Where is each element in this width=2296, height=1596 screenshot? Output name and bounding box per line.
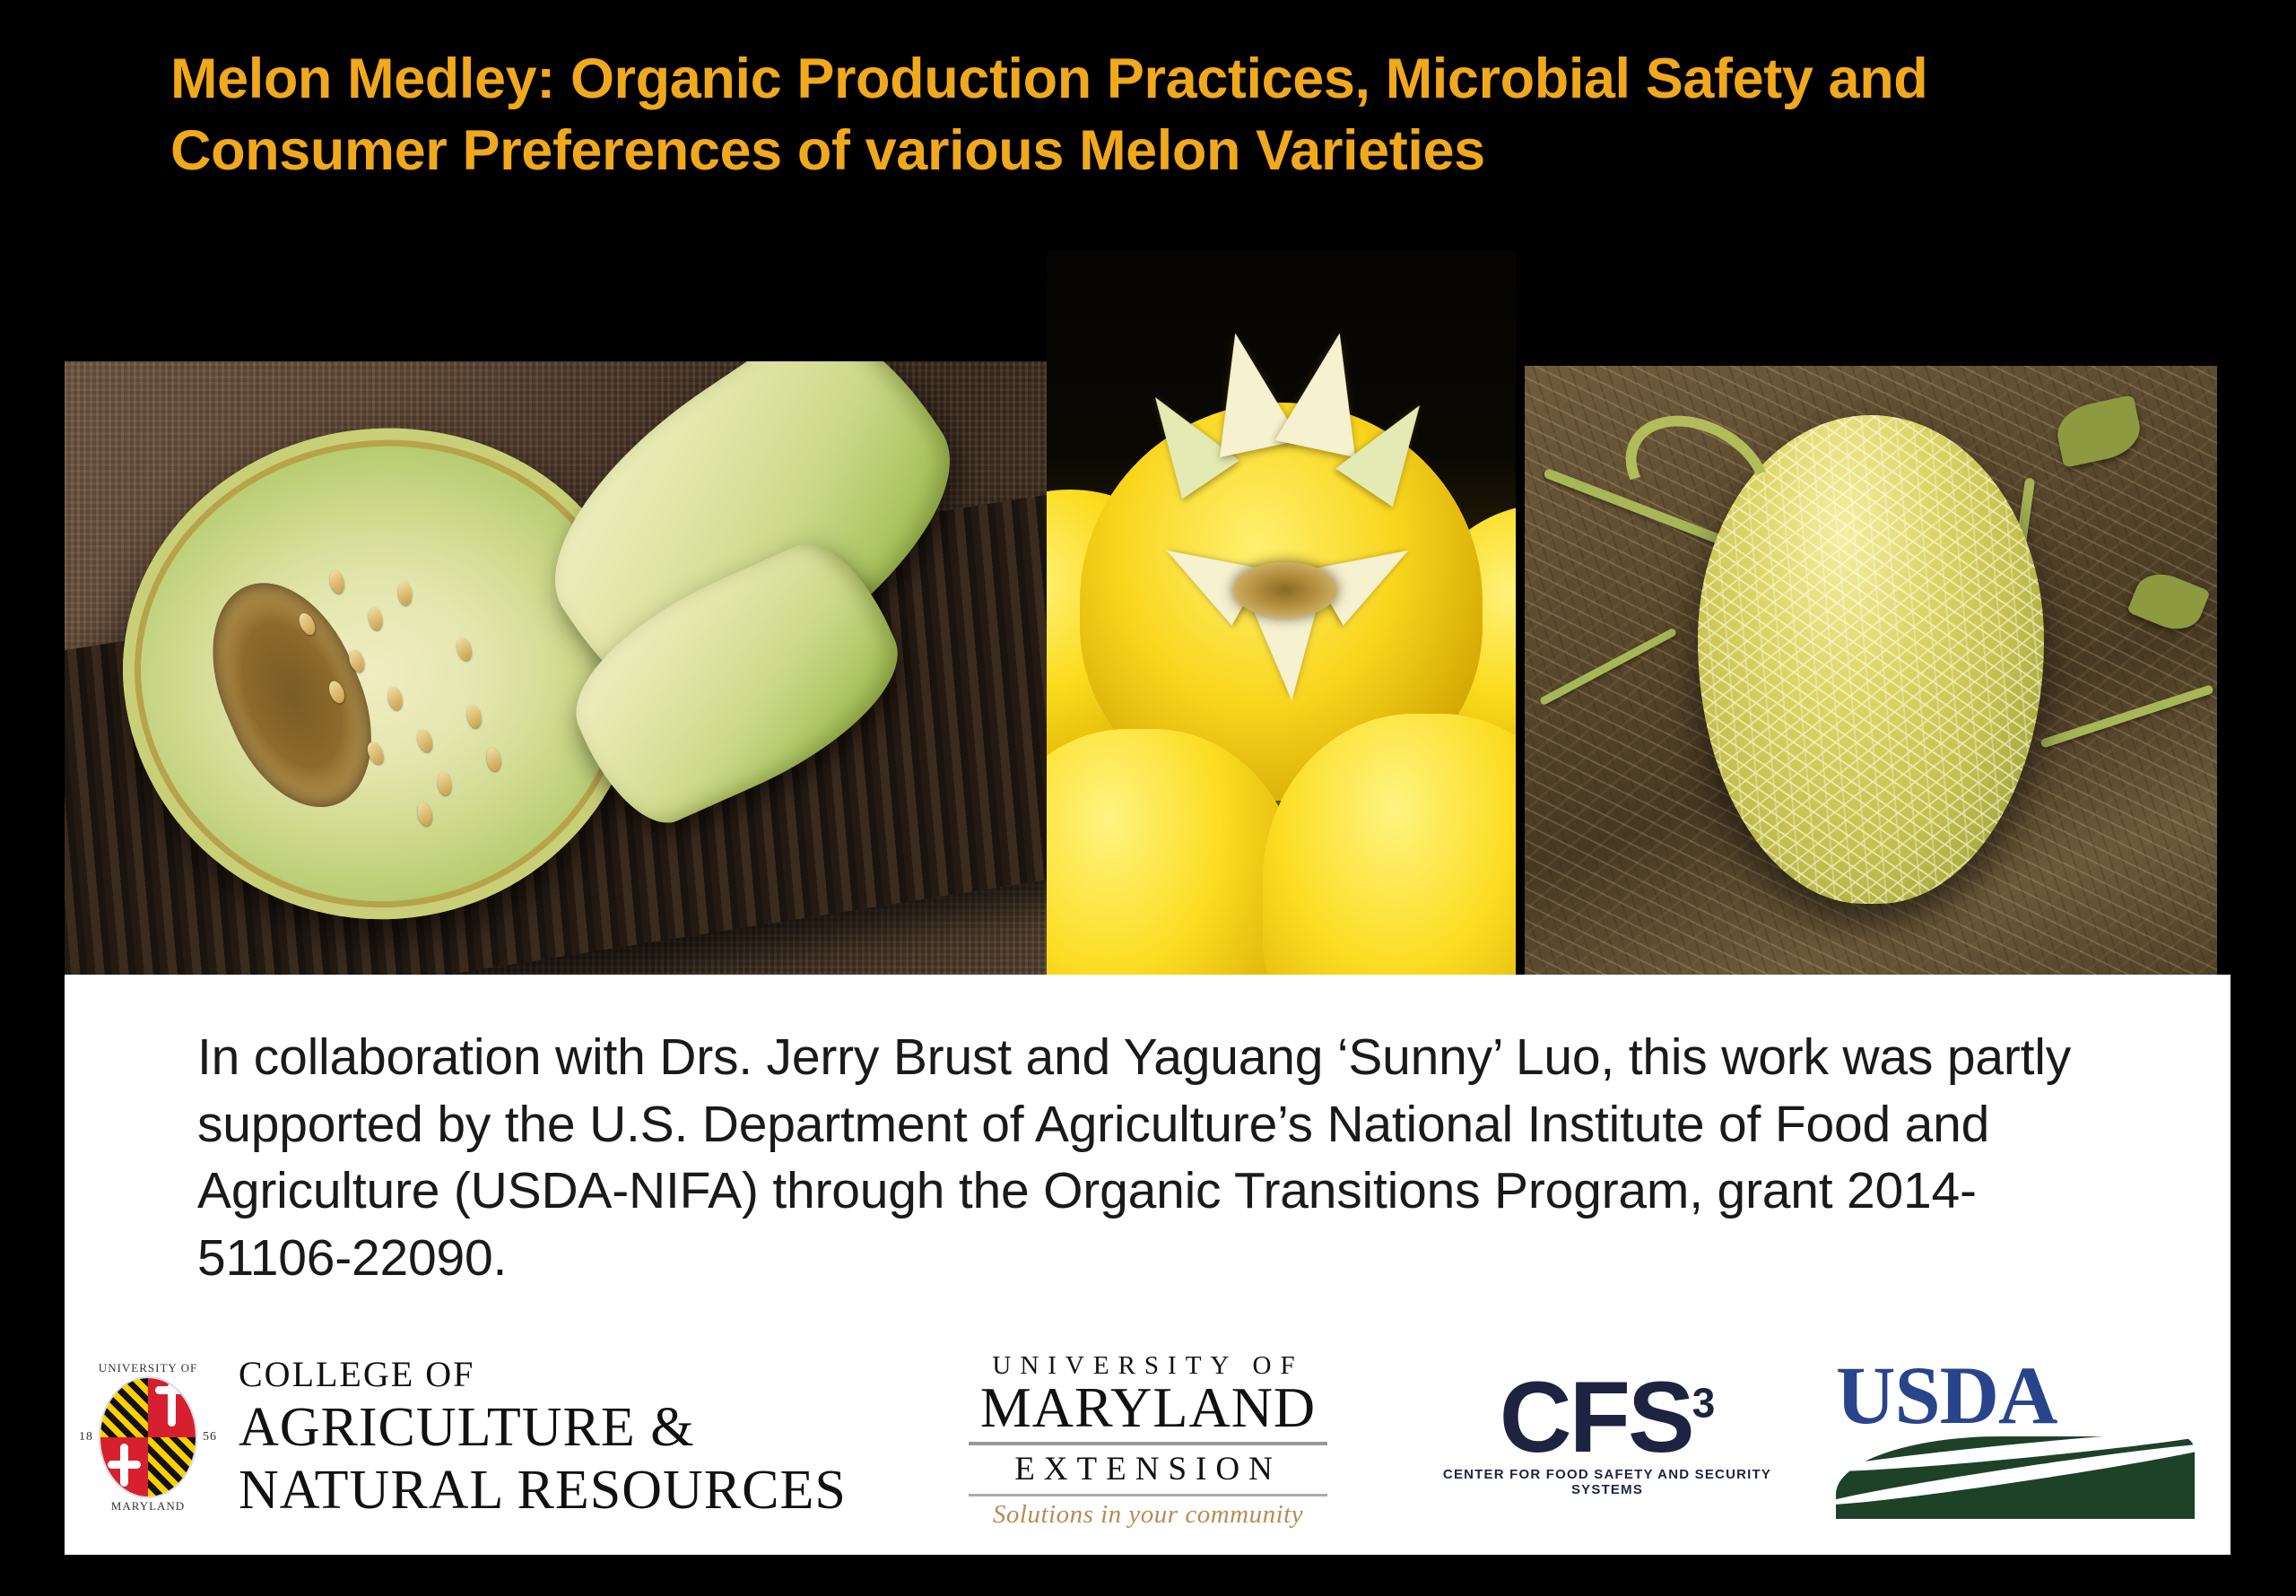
logo-row: UNIVERSITY OF MARYLAND 18 56 COLLEGE OF …: [65, 1351, 2231, 1544]
umd-seal-ring: UNIVERSITY OF MARYLAND 18 56: [81, 1362, 215, 1513]
photo-honeydew-melon-halved: [65, 361, 1047, 975]
melon-seed-core: [1233, 562, 1338, 618]
presentation-slide: Melon Medley: Organic Production Practic…: [0, 0, 2296, 1596]
canr-line-1: COLLEGE OF: [239, 1357, 847, 1392]
ume-tagline: Solutions in your community: [969, 1500, 1327, 1530]
photo-canary-melon-carved: [1047, 251, 1516, 975]
slide-title: Melon Medley: Organic Production Practic…: [170, 43, 2126, 186]
umd-seal-bottom-text: MARYLAND: [111, 1499, 185, 1514]
cfs3-letters: CFS: [1500, 1361, 1692, 1473]
acknowledgement-text: In collaboration with Drs. Jerry Brust a…: [197, 1024, 2099, 1292]
canr-line-2: AGRICULTURE &: [239, 1400, 847, 1455]
usda-field-graphic: [1836, 1436, 2195, 1519]
logo-umd-college-agriculture-natural-resources: UNIVERSITY OF MARYLAND 18 56 COLLEGE OF …: [81, 1357, 847, 1518]
canr-line-3: NATURAL RESOURCES: [239, 1462, 847, 1518]
cfs3-subtitle: CENTER FOR FOOD SAFETY AND SECURITY SYST…: [1437, 1467, 1778, 1497]
umd-seal-top-text: UNIVERSITY OF: [99, 1361, 197, 1375]
ume-divider-bottom: [969, 1494, 1327, 1496]
ume-line-maryland: MARYLAND: [969, 1379, 1327, 1436]
acknowledgement-panel: In collaboration with Drs. Jerry Brust a…: [65, 975, 2231, 1555]
logo-usda: USDA: [1836, 1357, 2195, 1519]
logo-umd-extension: UNIVERSITY OF MARYLAND EXTENSION Solutio…: [969, 1351, 1327, 1530]
umd-seal-year-left: 18: [79, 1430, 93, 1444]
logo-cfs3: CFS3 CENTER FOR FOOD SAFETY AND SECURITY…: [1437, 1371, 1778, 1497]
cfs3-mark: CFS3: [1437, 1371, 1778, 1463]
ume-divider-top: [969, 1442, 1327, 1445]
photo-netted-cantaloupe-field: [1525, 366, 2217, 984]
usda-wordmark: USDA: [1836, 1357, 2195, 1435]
umd-seal-icon: UNIVERSITY OF MARYLAND 18 56: [81, 1362, 215, 1513]
cfs3-superscript: 3: [1692, 1380, 1716, 1427]
ume-line-extension: EXTENSION: [969, 1450, 1327, 1488]
umd-seal-year-right: 56: [203, 1430, 217, 1444]
canr-wordmark: COLLEGE OF AGRICULTURE & NATURAL RESOURC…: [239, 1357, 847, 1518]
